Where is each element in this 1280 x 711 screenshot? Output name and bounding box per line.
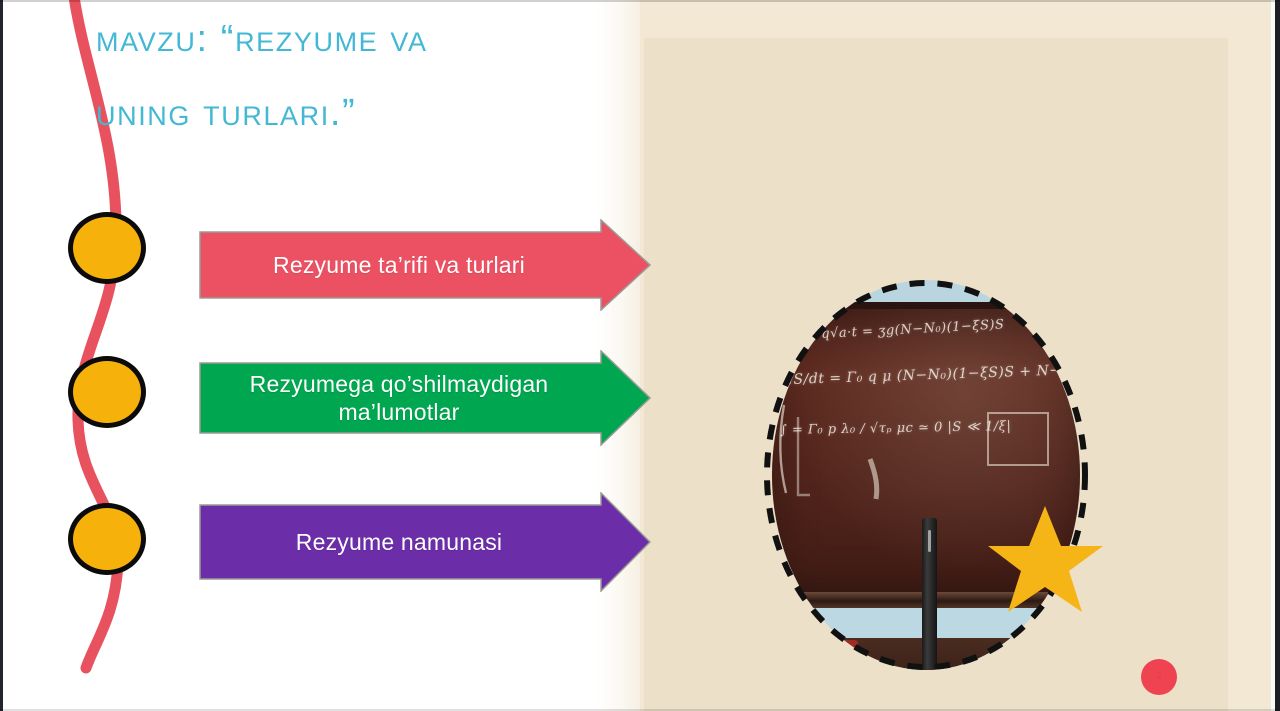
slide-left-edge [0,0,3,711]
bullet-marker-1 [68,212,146,284]
chalkboard-photo: dt = q√a·t = ʒg(N−N₀)(1−ξS)S dS/dt = Γ₀ … [726,272,1156,672]
bullet-marker-2 [68,356,146,428]
page-title: Mavzu: “Rezyume va uning turlari.” [96,2,616,150]
star-icon [988,504,1103,614]
slide-top-edge [0,0,1280,2]
arrow-banner-2[interactable]: Rezyumega qo’shilmaydigan ma’lumotlar [199,350,651,446]
arrow-banner-1[interactable]: Rezyume ta’rifi va turlari [199,219,651,311]
arrow-banner-3[interactable]: Rezyume namunasi [199,492,651,592]
page-number-label: 2 [1156,672,1162,682]
arrow-banner-3-label: Rezyume namunasi [199,528,651,556]
slide-right-edge [1275,0,1280,711]
arrow-banner-1-label: Rezyume ta’rifi va turlari [199,251,651,279]
bullet-marker-3 [68,503,146,575]
presentation-slide: Mavzu: “Rezyume va uning turlari.” Rezyu… [0,0,1280,711]
page-number-badge: 2 [1141,659,1177,695]
arrow-banner-2-label: Rezyumega qo’shilmaydigan ma’lumotlar [199,370,651,426]
